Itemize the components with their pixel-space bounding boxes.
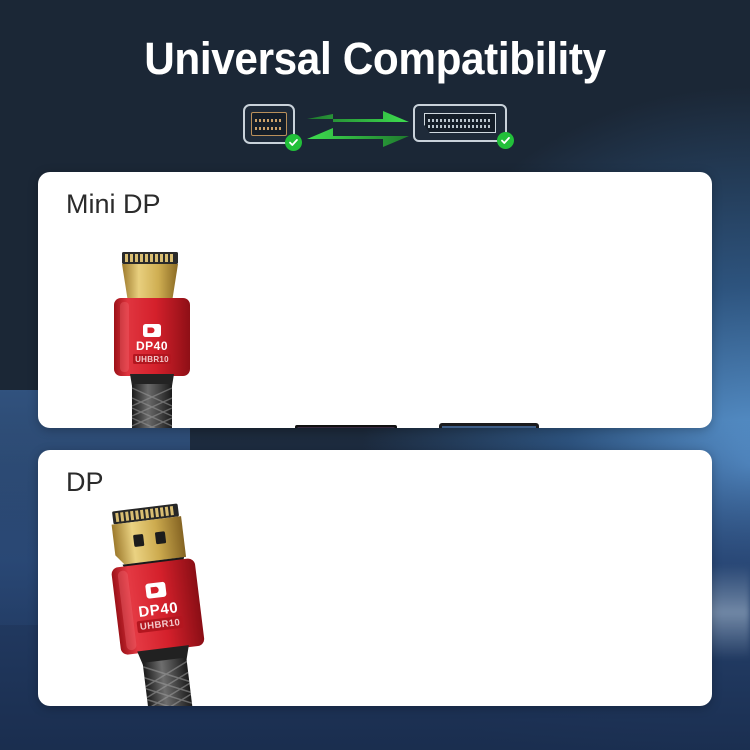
- card-title: DP: [66, 466, 104, 498]
- card-dp: DP: [38, 450, 712, 706]
- device-list-mini-dp: for Computer: [244, 412, 712, 428]
- imac-icon: [436, 412, 542, 428]
- dp-cable-image: DP40 UHBR10: [98, 502, 228, 706]
- mini-dp-port-icon: [243, 104, 295, 144]
- product-feature-image: Universal Compatibility: [0, 0, 750, 750]
- desktop-computer-icon: [251, 412, 401, 428]
- page-title: Universal Compatibility: [23, 33, 728, 85]
- device-item: for Computer: [244, 412, 407, 428]
- bidirectional-arrows-icon: [305, 106, 411, 150]
- check-icon: [497, 132, 514, 149]
- check-icon: [285, 134, 302, 151]
- macbook-icon: [582, 412, 713, 428]
- svg-text:DP40: DP40: [136, 339, 168, 353]
- device-item: for Macbook: [570, 412, 712, 428]
- device-item: for iMac: [407, 412, 570, 428]
- svg-text:UHBR10: UHBR10: [135, 355, 169, 364]
- dp-port-icon: [413, 104, 507, 142]
- port-compatibility-row: [243, 104, 507, 152]
- card-title: Mini DP: [66, 188, 161, 220]
- mini-dp-cable-image: DP40 UHBR10: [100, 246, 204, 428]
- card-mini-dp: Mini DP: [38, 172, 712, 428]
